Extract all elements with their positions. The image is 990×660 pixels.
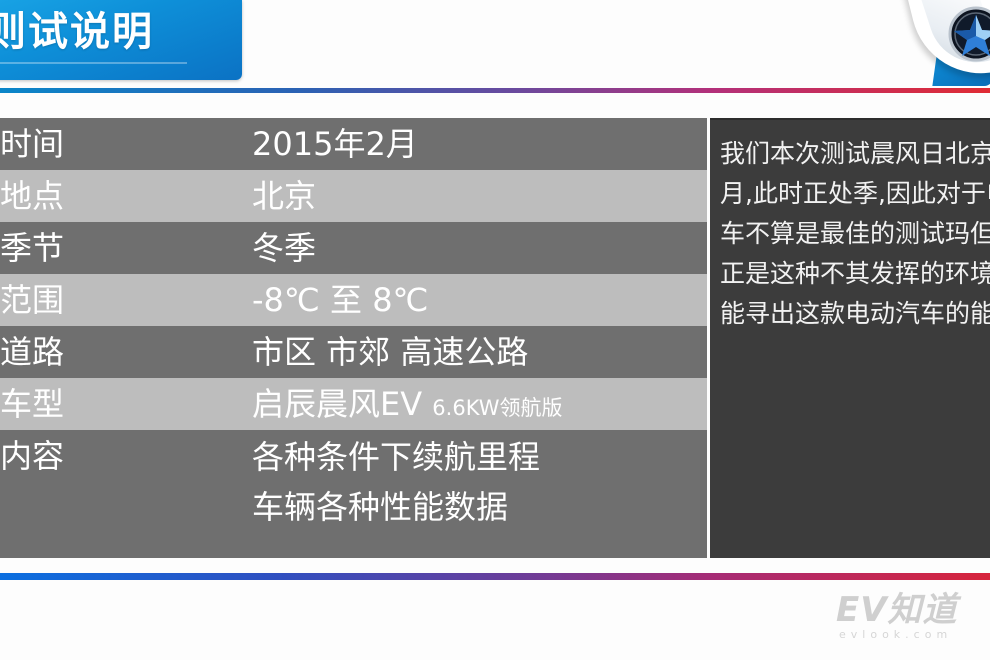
site-watermark: EV知道 evlook.com (836, 592, 990, 648)
table-row: 试地点 北京 (0, 170, 707, 222)
spec-value: 启辰晨风EV 6.6KW领航版 (252, 378, 562, 434)
spec-label: 度范围 (0, 274, 228, 326)
spec-label: 试地点 (0, 170, 228, 222)
table-row: 度范围 -8℃ 至 8℃ (0, 274, 707, 326)
table-row: 试时间 2015年2月 (0, 118, 707, 170)
test-spec-table: 试时间 2015年2月 试地点 北京 试季节 冬季 度范围 -8℃ 至 8℃ 试… (0, 118, 707, 558)
note-paragraph: 我们本次测试晨风日北京的2月,此时正处季,因此对于电动车不算是最佳的测试玛但相反… (720, 134, 990, 334)
spec-value-model: 启辰晨风EV (252, 385, 422, 423)
spec-label: 试时间 (0, 118, 228, 170)
table-row: 试季节 冬季 (0, 222, 707, 274)
spec-value-line-2: 车辆各种性能数据 (252, 482, 540, 532)
bottom-divider-rule (0, 573, 990, 580)
venucia-star-badge-icon (948, 6, 990, 62)
table-row: 试道路 市区 市郊 高速公路 (0, 326, 707, 378)
spec-value: 冬季 (252, 222, 316, 274)
page-title: 则试说明 (0, 6, 154, 58)
slide-page: 则试说明 试时间 2015年2月 试地点 北京 (0, 0, 990, 660)
spec-label: 试内容 (0, 430, 228, 482)
section-title-banner: 则试说明 (0, 0, 242, 80)
test-note-panel: 我们本次测试晨风日北京的2月,此时正处季,因此对于电动车不算是最佳的测试玛但相反… (710, 118, 990, 558)
spec-label: 试车型 (0, 378, 228, 430)
spec-label: 试季节 (0, 222, 228, 274)
watermark-logo-text: EV知道 (836, 592, 990, 628)
watermark-url-text: evlook.com (836, 628, 990, 642)
top-divider-rule (0, 88, 990, 93)
spec-value: 各种条件下续航里程 车辆各种性能数据 (252, 430, 540, 532)
spec-value-line-1: 各种条件下续航里程 (252, 432, 540, 482)
spec-value: 北京 (252, 170, 316, 222)
table-row: 试内容 各种条件下续航里程 车辆各种性能数据 (0, 430, 707, 558)
spec-value: -8℃ 至 8℃ (252, 274, 429, 326)
table-row: 试车型 启辰晨风EV 6.6KW领航版 (0, 378, 707, 430)
page-header: 则试说明 (0, 0, 990, 88)
spec-label: 试道路 (0, 326, 228, 378)
banner-underline (0, 62, 187, 64)
spec-value: 2015年2月 (252, 118, 418, 170)
spec-value: 市区 市郊 高速公路 (252, 326, 528, 378)
spec-value-trim: 6.6KW领航版 (432, 396, 562, 420)
